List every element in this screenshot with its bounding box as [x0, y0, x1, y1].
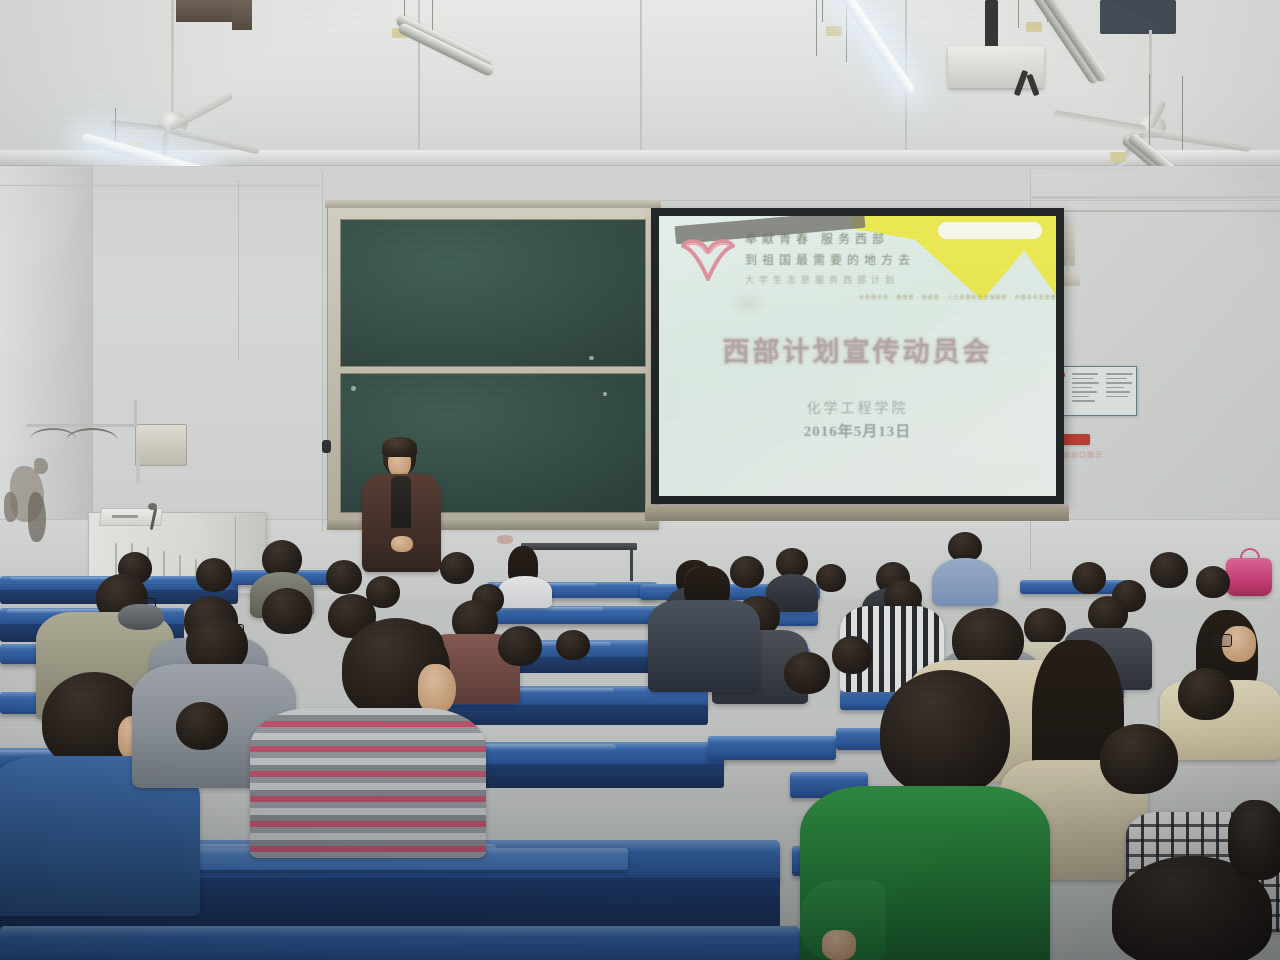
presenter-hair: [382, 437, 417, 457]
slide-header-block: 奉献青春 服务西部 到祖国最需要的地方去 大学生志愿服务西部计划: [745, 230, 935, 286]
person-head: [176, 702, 228, 750]
wall-red-smudge: [497, 535, 513, 544]
light-hanger-wire: [822, 0, 823, 22]
person-top: [498, 576, 552, 608]
projection-screen-bottom-bar: [645, 505, 1069, 521]
projector-ceiling-mount: [985, 0, 998, 48]
tube-light-cap: [826, 26, 842, 36]
wall-seam: [322, 172, 323, 532]
ceiling-seam: [640, 0, 642, 150]
wall-seam: [0, 185, 320, 186]
light-hanger-wire: [432, 0, 433, 30]
person-head: [1150, 552, 1188, 588]
blackboard-top-rail: [325, 200, 661, 208]
slide-footer-credit: 共青团中央 · 教育部 · 财政部 · 人力资源和社会保障部 · 中国青年志愿者…: [859, 294, 1056, 301]
presenter-shirt: [391, 476, 411, 528]
person-head: [1178, 668, 1234, 720]
person-shirt-lightblue: [932, 558, 998, 606]
person-head: [1072, 562, 1106, 594]
tube-light-cap: [1026, 22, 1042, 32]
wall-conduit: [1032, 210, 1280, 212]
slide-organization: 化学工程学院: [659, 398, 1056, 418]
wall-conduit: [26, 424, 138, 427]
ceiling-dark-panel: [1100, 0, 1176, 34]
light-hanger-wire: [1182, 76, 1183, 150]
slide-title: 西部计划宣传动员会: [659, 330, 1056, 369]
bag-on-desk: [118, 604, 164, 630]
person-head: [1088, 596, 1128, 632]
slide-date: 2016年5月13日: [659, 420, 1056, 441]
person-ear-neck: [418, 664, 456, 714]
projection-screen: 奉献青春 服务西部 到祖国最需要的地方去 大学生志愿服务西部计划 共青团中央 ·…: [651, 208, 1064, 504]
person-head: [880, 670, 1010, 796]
microphone-head[interactable]: [148, 503, 157, 510]
wall-conduit: [134, 400, 137, 426]
fan-downrod: [171, 0, 174, 118]
slide-header-line-1: 奉献青春 服务西部: [745, 230, 935, 247]
hands-heart-volunteer-logo: [679, 232, 737, 284]
person-head: [1228, 800, 1280, 880]
person-head: [556, 630, 590, 660]
person-head: [262, 588, 312, 634]
person-head: [784, 652, 830, 694]
wall-junction-box: [135, 424, 187, 466]
slide-light-artifact: [727, 290, 769, 316]
person-head: [816, 564, 846, 592]
wall-plaster-damage: [4, 492, 18, 522]
slide-header-line-2: 到祖国最需要的地方去: [745, 251, 935, 268]
person-head: [196, 558, 232, 592]
person-head: [730, 556, 764, 588]
wall-plaster-damage: [34, 458, 48, 474]
lectern-slot: [112, 515, 138, 518]
person-head: [1196, 566, 1230, 598]
desk-row-4-center-front: [446, 705, 708, 725]
person-head: [1100, 724, 1178, 794]
person-jacket-patterned: [648, 600, 760, 692]
tube-light-cap: [1110, 152, 1126, 162]
ceiling-vent: [232, 0, 252, 30]
bench-leg: [630, 549, 633, 581]
projected-slide: 奉献青春 服务西部 到祖国最需要的地方去 大学生志愿服务西部计划 共青团中央 ·…: [659, 216, 1056, 496]
slide-white-rounded-box: [938, 222, 1042, 239]
light-hanger-wire: [816, 0, 817, 56]
wall-seam: [238, 180, 239, 360]
slide-header-line-3: 大学生志愿服务西部计划: [745, 273, 935, 286]
person-hand: [822, 930, 856, 960]
desk-row-5-right: [708, 736, 836, 760]
light-hanger-wire: [846, 0, 847, 62]
light-hanger-wire: [1149, 74, 1150, 152]
blackboard-panel-top: [340, 219, 646, 367]
desk-row-foreground-lower: [0, 926, 800, 960]
light-hanger-wire: [1018, 0, 1019, 28]
person-head: [498, 626, 542, 666]
person-polo-striped-pink-grey: [250, 708, 486, 858]
person-head: [326, 560, 362, 594]
presenter-clasped-hands: [391, 536, 413, 552]
desk-row-2-center: [478, 606, 674, 624]
person-head: [1024, 608, 1066, 646]
blackboard-track-knob[interactable]: [322, 440, 331, 453]
red-wall-sign: [1062, 434, 1090, 445]
wall-conduit: [1032, 196, 1280, 199]
handset-cord: [136, 455, 140, 483]
front-bench-table: [521, 543, 637, 550]
person-head: [440, 552, 474, 584]
hanging-wire: [66, 428, 118, 454]
classroom-photo-scene: 安全出口指示 奉献青春 服务西部 到祖国最需: [0, 0, 1280, 960]
wall-seam: [640, 200, 1280, 201]
wall-plaster-damage: [28, 492, 46, 542]
glasses-icon: [1212, 634, 1232, 647]
pink-handbag: [1226, 558, 1272, 596]
person-head: [832, 636, 872, 674]
